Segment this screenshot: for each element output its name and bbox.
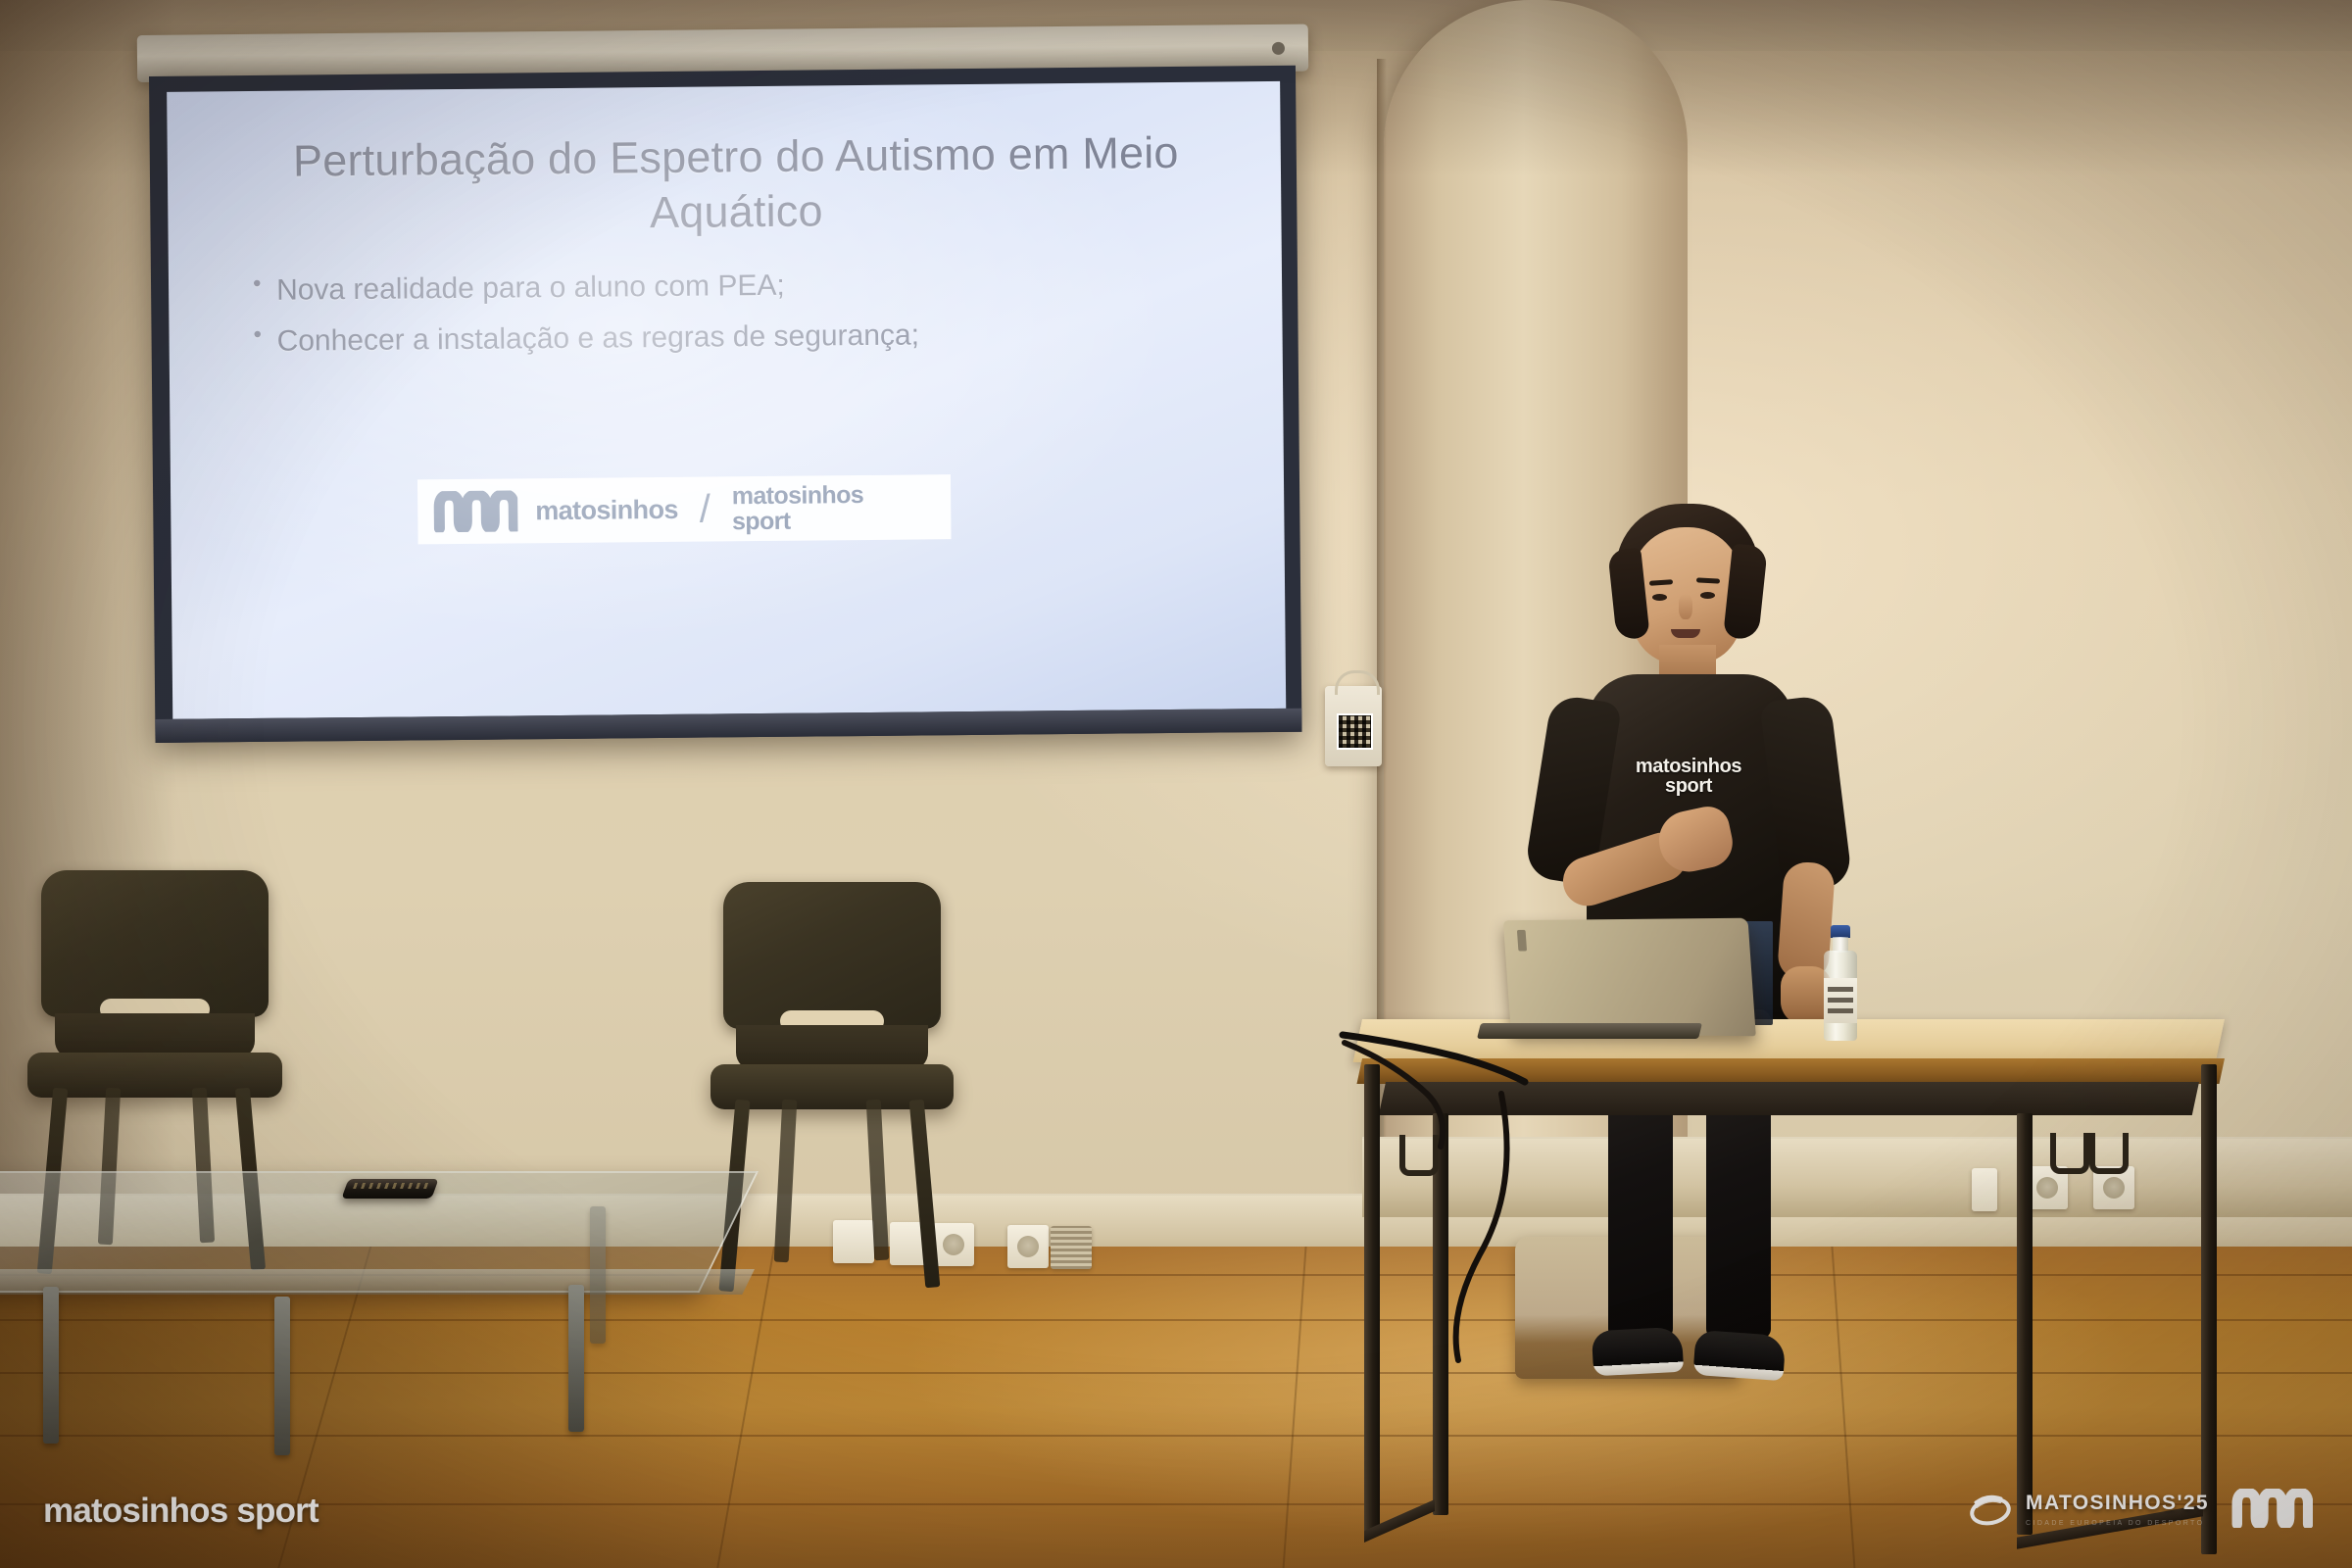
swirl-oval-icon [1968, 1490, 2013, 1532]
presenter-brow [1649, 579, 1673, 586]
glass-tabletop-edge [0, 1269, 755, 1295]
slide-surface: Perturbação do Espetro do Autismo em Mei… [167, 81, 1286, 719]
presenter-eye [1652, 594, 1667, 601]
tshirt-logo-line2: sport [1665, 775, 1712, 797]
glass-table-leg [590, 1206, 606, 1344]
slide-title: Perturbação do Espetro do Autismo em Mei… [226, 124, 1247, 244]
glass-table-leg [274, 1297, 290, 1455]
desk-hook-icon [2089, 1133, 2129, 1174]
qr-code-icon [1337, 713, 1373, 750]
glass-coffee-table[interactable] [0, 1171, 774, 1396]
tshirt-logo-text: matosinhos sport [1626, 757, 1751, 797]
watermark-bottom-left: matosinhos sport [43, 1492, 318, 1531]
photo-canvas: Perturbação do Espetro do Autismo em Mei… [0, 0, 2352, 1568]
wall-socket [1007, 1225, 1049, 1268]
slide-bullet-item: Nova realidade para o aluno com PEA; [251, 259, 1250, 313]
chair-leg [774, 1100, 798, 1263]
projector-screen: Perturbação do Espetro do Autismo em Mei… [149, 66, 1301, 743]
wall-vent [1051, 1226, 1092, 1269]
matosinhos25-badge: MATOSINHOS'25 CIDADE EUROPEIA DO DESPORT… [1968, 1490, 2209, 1532]
presenter-brow [1696, 577, 1720, 583]
matosinhos-mm-wave-icon [2230, 1489, 2313, 1533]
desk-hook-icon [2050, 1133, 2089, 1174]
slide-logo-stack-line2: sport [732, 508, 791, 536]
slide-bullet-list: Nova realidade para o aluno com PEA; Con… [212, 259, 1251, 369]
screen-roller-knob [1272, 42, 1285, 55]
matosinhos25-subtitle: CIDADE EUROPEIA DO DESPORTO [2026, 1520, 2204, 1527]
chair-backrest [723, 882, 941, 1029]
matosinhos25-title: MATOSINHOS'25 [2026, 1492, 2209, 1514]
desk-leg [2201, 1064, 2217, 1554]
slide-logo-stack: matosinhos sport [732, 482, 864, 535]
wall-sanitizer-dispenser[interactable] [1325, 686, 1382, 766]
desk-cables [1333, 1000, 1842, 1411]
matosinhos-mm-wave-icon [433, 490, 517, 532]
matosinhos25-text: MATOSINHOS'25 CIDADE EUROPEIA DO DESPORT… [2026, 1493, 2209, 1529]
presenter-eye [1700, 592, 1715, 599]
tv-remote-control[interactable] [341, 1179, 438, 1199]
glass-table-leg [568, 1285, 584, 1432]
slide-logo-word: matosinhos [535, 494, 678, 525]
remote-buttons [353, 1183, 429, 1189]
chair-leg [866, 1100, 890, 1261]
desk-leg [2017, 1113, 2033, 1535]
glass-table-leg [43, 1287, 59, 1444]
chair-leg [909, 1100, 941, 1289]
slide-bullet-item: Conhecer a instalação e as regras de seg… [251, 310, 1250, 364]
presenter-mouth [1671, 629, 1700, 638]
slide-logo-separator: / [696, 487, 715, 531]
slide-logo-stack-line1: matosinhos [732, 481, 864, 510]
laptop-brand-badge-icon [1517, 930, 1527, 952]
tshirt-logo-line1: matosinhos [1636, 756, 1741, 777]
slide-logo-bar: matosinhos / matosinhos sport [417, 474, 952, 544]
presenter-nose [1679, 594, 1692, 619]
chair-backrest [41, 870, 269, 1017]
watermark-bottom-right: MATOSINHOS'25 CIDADE EUROPEIA DO DESPORT… [1968, 1489, 2313, 1533]
